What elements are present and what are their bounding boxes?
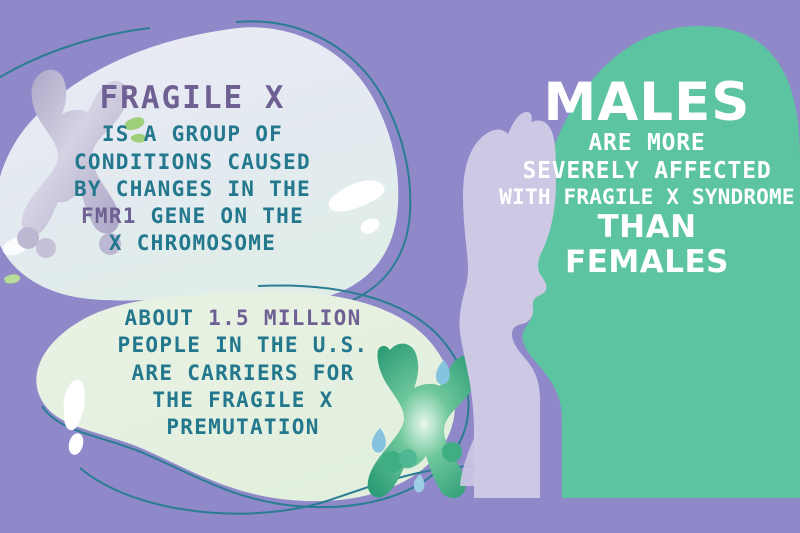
fragile-x-line-3: BY CHANGES IN THE (60, 176, 325, 203)
males-text-block: MALES ARE MORE SEVERELY AFFECTED WITH FR… (498, 76, 796, 280)
carriers-line-3: ARE CARRIERS FOR (88, 360, 398, 387)
carriers-about-token: ABOUT (124, 306, 208, 330)
fragile-x-line-1: IS A GROUP OF (60, 121, 325, 148)
fmr1-gene-token: FMR1 (81, 204, 137, 228)
carriers-line-4: THE FRAGILE X (88, 387, 398, 414)
males-headline: MALES (498, 76, 796, 130)
carriers-statistic: 1.5 MILLION (208, 306, 361, 330)
carriers-line-2: PEOPLE IN THE U.S. (88, 332, 398, 359)
males-line-3: SEVERELY AFFECTED (498, 158, 796, 186)
fragile-x-line-4: FMR1 GENE ON THE (60, 203, 325, 230)
males-line-2: ARE MORE (498, 130, 796, 158)
fragile-x-text-block: FRAGILE X IS A GROUP OF CONDITIONS CAUSE… (60, 78, 325, 258)
infographic-canvas: FRAGILE X IS A GROUP OF CONDITIONS CAUSE… (0, 0, 800, 533)
males-line-4: WITH FRAGILE X SYNDROME (498, 185, 796, 210)
males-line-6: FEMALES (498, 245, 796, 280)
fragile-x-line-4-rest: GENE ON THE (137, 204, 304, 228)
fragile-x-line-2: CONDITIONS CAUSED (60, 149, 325, 176)
carriers-line-5: PREMUTATION (88, 414, 398, 441)
carriers-line-1: ABOUT 1.5 MILLION (88, 305, 398, 332)
carriers-text-block: ABOUT 1.5 MILLION PEOPLE IN THE U.S. ARE… (88, 305, 398, 441)
fragile-x-headline: FRAGILE X (60, 78, 325, 118)
males-line-5: THAN (498, 210, 796, 245)
fragile-x-line-5: X CHROMOSOME (60, 230, 325, 257)
